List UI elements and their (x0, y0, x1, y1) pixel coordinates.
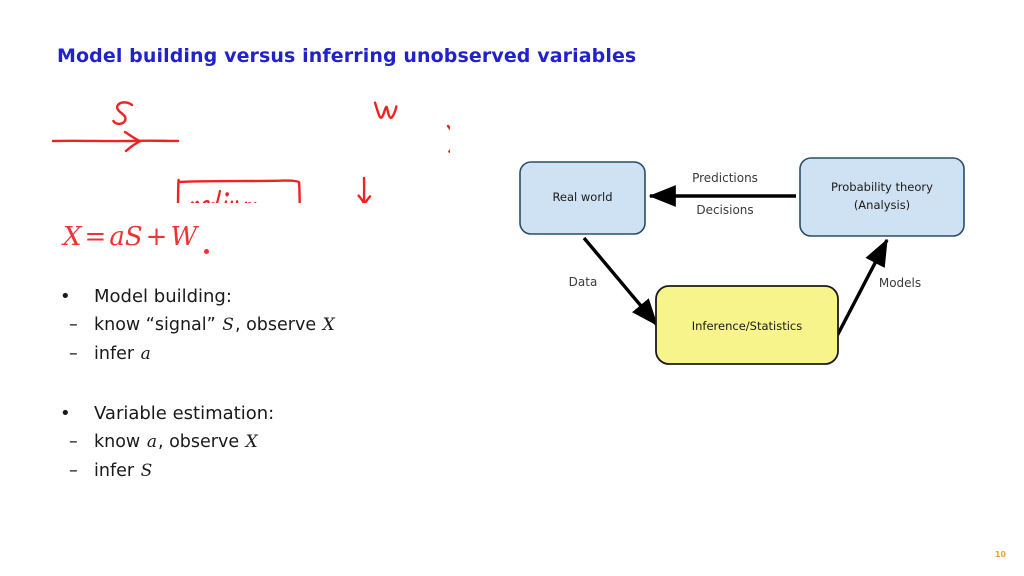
equation-lhs: X (63, 222, 82, 252)
sub-bullet-label: infer S (94, 457, 153, 486)
equation-signal: S (125, 222, 143, 252)
page-number: 10 (995, 550, 1006, 559)
math-variable: X (245, 432, 259, 452)
math-variable: S (140, 461, 154, 481)
sub-bullet-item: – know “signal” S, observe X (60, 311, 490, 340)
equation-equals: = (82, 222, 110, 252)
flow-diagram-svg: Real world Probability theory (Analysis)… (500, 140, 1000, 390)
math-variable: a (146, 432, 158, 452)
bullet-marker: • (60, 399, 94, 428)
sub-bullet-label: know a, observe X (94, 428, 259, 457)
bullet-list: • Model building: – know “signal” S, obs… (60, 282, 490, 486)
bullet-group-variable-estimation: • Variable estimation: – know a, observe… (60, 399, 490, 486)
sub-bullet-marker: – (60, 311, 94, 340)
label-X (448, 126, 450, 152)
text-fragment: know (94, 432, 146, 452)
sub-bullet-item: – infer S (60, 457, 490, 486)
equation-annotation-dot (204, 249, 209, 254)
page-title: Model building versus inferring unobserv… (57, 45, 636, 67)
sub-bullet-item: – infer a (60, 340, 490, 369)
real-world-box-label: Real world (552, 190, 612, 204)
sub-bullet-label: know “signal” S, observe X (94, 311, 336, 340)
equation: X=aS+W (63, 222, 197, 252)
block-diagram-svg (50, 78, 450, 203)
math-variable: X (322, 315, 336, 335)
math-variable: a (140, 344, 152, 364)
sub-bullet-marker: – (60, 340, 94, 369)
probability-theory-box-label-line2: (Analysis) (854, 198, 910, 212)
text-fragment: infer (94, 344, 140, 364)
sub-bullet-item: – know a, observe X (60, 428, 490, 457)
sub-bullet-marker: – (60, 428, 94, 457)
text-fragment: , observe (158, 432, 245, 452)
arrow-label-predictions: Predictions (692, 171, 758, 185)
probability-theory-box-shape (800, 158, 964, 236)
text-fragment: know “signal” (94, 315, 221, 335)
equation-plus: + (143, 222, 171, 252)
sub-bullet-label: infer a (94, 340, 152, 369)
flow-diagram: Real world Probability theory (Analysis)… (500, 140, 1000, 390)
bullet-item: • Variable estimation: (60, 399, 490, 428)
probability-theory-box-label-line1: Probability theory (831, 180, 933, 194)
bullet-label: Model building: (94, 282, 232, 311)
flow-box-probability-theory[interactable]: Probability theory (Analysis) (800, 158, 964, 236)
sub-bullet-marker: – (60, 457, 94, 486)
block-diagram (50, 78, 450, 203)
flow-box-inference-statistics[interactable]: Inference/Statistics (656, 286, 838, 364)
block-label-medium (191, 191, 257, 203)
bullet-marker: • (60, 282, 94, 311)
equation-coefficient: a (109, 222, 125, 252)
bullet-label: Variable estimation: (94, 399, 274, 428)
bullet-group-model-building: • Model building: – know “signal” S, obs… (60, 282, 490, 369)
text-fragment: , observe (235, 315, 322, 335)
arrow-label-models: Models (879, 276, 921, 290)
block-top-edge (179, 181, 299, 183)
inference-statistics-box-label: Inference/Statistics (692, 319, 803, 333)
label-W (375, 103, 396, 118)
label-S (113, 102, 132, 123)
math-variable: S (221, 315, 235, 335)
block-left-edge (178, 180, 179, 203)
arrow-label-data: Data (569, 275, 598, 289)
block-right-edge (299, 182, 300, 203)
arrow-label-decisions: Decisions (696, 203, 753, 217)
flow-box-real-world[interactable]: Real world (520, 162, 645, 234)
equation-noise: W (170, 222, 197, 252)
text-fragment: infer (94, 461, 140, 481)
bullet-item: • Model building: (60, 282, 490, 311)
